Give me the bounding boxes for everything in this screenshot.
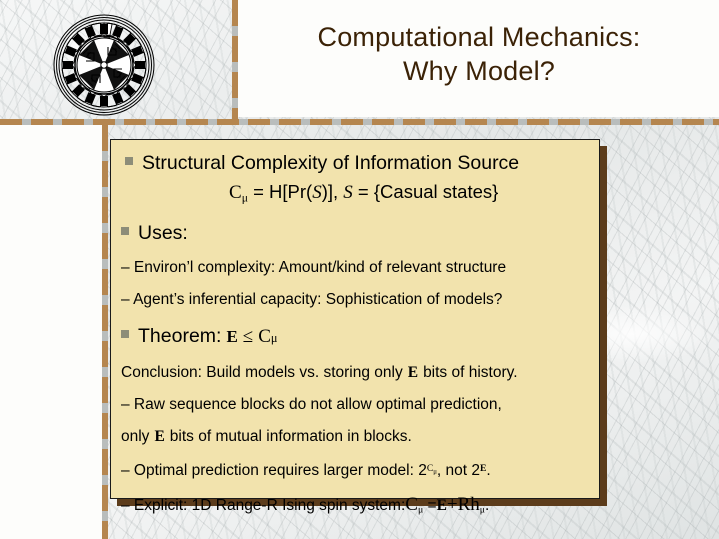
explicit-c: C [405,494,418,515]
explicit-e: E [437,497,447,514]
square-bullet-icon [125,157,133,165]
only-e-symbol: E [154,428,164,445]
formula-mid-1: = H[Pr( [248,181,312,202]
conclusion-pre: Conclusion: Build models vs. storing onl… [121,364,403,381]
explicit-h: h [470,494,480,515]
explicit-pre: – Explicit: 1D Range-R Ising spin system… [121,497,405,514]
only-post: bits of mutual information in blocks. [170,428,412,445]
line-raw-sequence: – Raw sequence blocks do not allow optim… [121,394,587,416]
optimal-pre: – Optimal prediction requires larger mod… [121,462,427,479]
explicit-plus-r: +R [447,494,470,515]
line-explicit-ising: – Explicit: 1D Range-R Ising spin system… [121,494,587,522]
left-white-panel [0,125,102,539]
theorem-relation: ≤ [243,324,253,350]
sub-bullet-environmental-complexity: – Environ’l complexity: Amount/kind of r… [121,257,587,279]
line-optimal-prediction: – Optimal prediction requires larger mod… [121,458,587,484]
slide-canvas: Computational Mechanics: Why Model? Stru… [0,0,719,539]
optimal-mid: , not 2 [437,462,480,479]
bullet-theorem: Theorem:E≤Cμ [121,323,587,351]
bullet-2-label: Uses: [138,220,188,246]
sub-bullet-agent-inferential-capacity: – Agent’s inferential capacity: Sophisti… [121,289,587,311]
square-bullet-icon [121,227,129,235]
formula-mid-2: )], [322,181,344,202]
title-line-2: Why Model? [240,54,718,88]
formula-s-1: S [312,182,322,203]
aztec-medallion-logo-icon [52,13,156,117]
square-bullet-icon [121,330,129,338]
explicit-eq: = [423,497,436,514]
conclusion-e-symbol: E [408,364,418,381]
theorem-c-symbol: C [258,324,271,350]
page-title: Computational Mechanics: Why Model? [240,20,718,88]
conclusion-post: bits of history. [423,364,517,381]
only-pre: only [121,428,149,445]
theorem-c-sub: μ [271,325,278,351]
formula-s-2: S [343,182,353,203]
formula-cmu: Cμ = H[Pr(S)], S = {Casual states} [229,179,587,211]
vertical-divider-title [232,0,238,119]
vertical-divider-left [102,125,108,539]
bullet-3-label: Theorem: [138,323,221,349]
bullet-structural-complexity: Structural Complexity of Information Sou… [125,150,587,176]
bullet-uses: Uses: [121,220,587,246]
theorem-e-symbol: E [226,324,237,350]
content-card: Structural Complexity of Information Sou… [110,139,600,499]
line-only-e-bits: onlyEbits of mutual information in block… [121,426,587,448]
bullet-1-label: Structural Complexity of Information Sou… [142,150,519,176]
title-line-1: Computational Mechanics: [240,20,718,54]
conclusion-line: Conclusion: Build models vs. storing onl… [121,362,587,384]
explicit-period: . [485,497,489,514]
formula-mid-3: = {Casual states} [353,181,499,202]
optimal-post: . [486,462,490,479]
formula-c: C [229,182,242,203]
